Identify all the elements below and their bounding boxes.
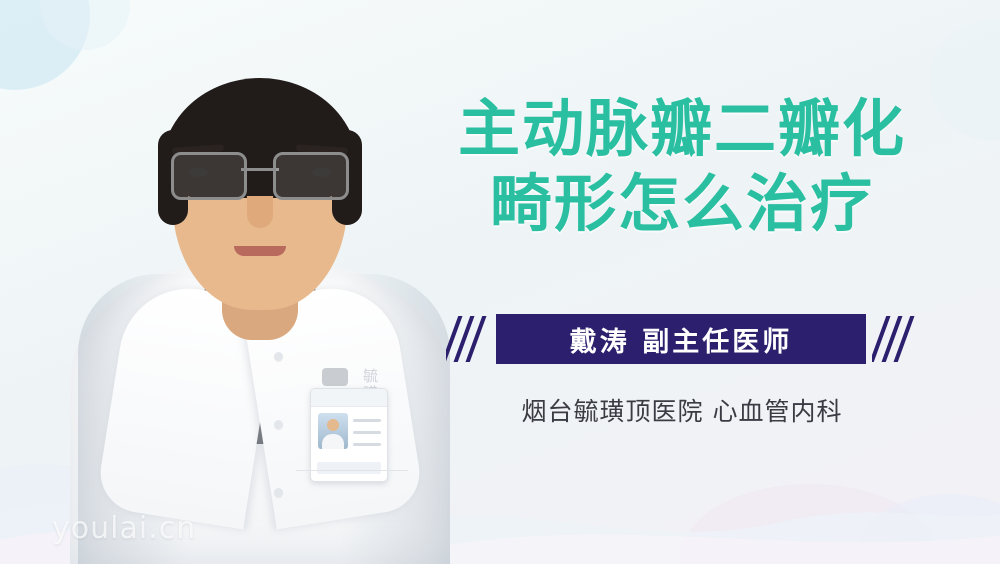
coat-button-1 [274,352,283,361]
badge-header [311,389,387,407]
coat-button-3 [274,488,283,497]
coat-button-2 [274,420,283,429]
affiliation-line: 烟台毓璜顶医院 心血管内科 [392,392,972,428]
presenter-name-bar: 戴涛 副主任医师 [496,314,866,364]
badge-clip [322,368,348,386]
slash-decor-left [446,316,492,362]
lens-left [171,152,247,200]
presenter-name-text: 戴涛 副主任医师 [570,320,792,359]
mouth [234,246,286,256]
lens-right [273,152,349,200]
badge-portrait-body [322,434,344,449]
title-block: 主动脉瓣二瓣化 畸形怎么治疗 [392,96,972,238]
badge-portrait [318,413,348,449]
coat-pocket-edge [296,470,408,471]
nose [247,196,273,228]
title-line-1: 主动脉瓣二瓣化 [392,96,972,163]
badge-text-line-1 [353,419,381,422]
title-line-2: 畸形怎么治疗 [392,171,972,238]
badge-text-line-2 [353,431,381,434]
presenter-banner: 戴涛 副主任医师 [476,314,886,364]
badge-text-line-3 [353,443,381,446]
eyeglasses [171,152,349,196]
watermark-youlai: youlai.cn [52,511,196,546]
badge-footer-strip [317,462,381,474]
id-badge [310,388,388,482]
slash-decor-right [872,316,918,362]
doctor-photo: 毓璜顶 [60,0,460,564]
thumbnail-canvas: 毓璜顶 youlai.cn 主动脉瓣二瓣化 畸形怎么治疗 戴涛 副主任医师 [0,0,1000,564]
badge-portrait-head [327,419,339,431]
